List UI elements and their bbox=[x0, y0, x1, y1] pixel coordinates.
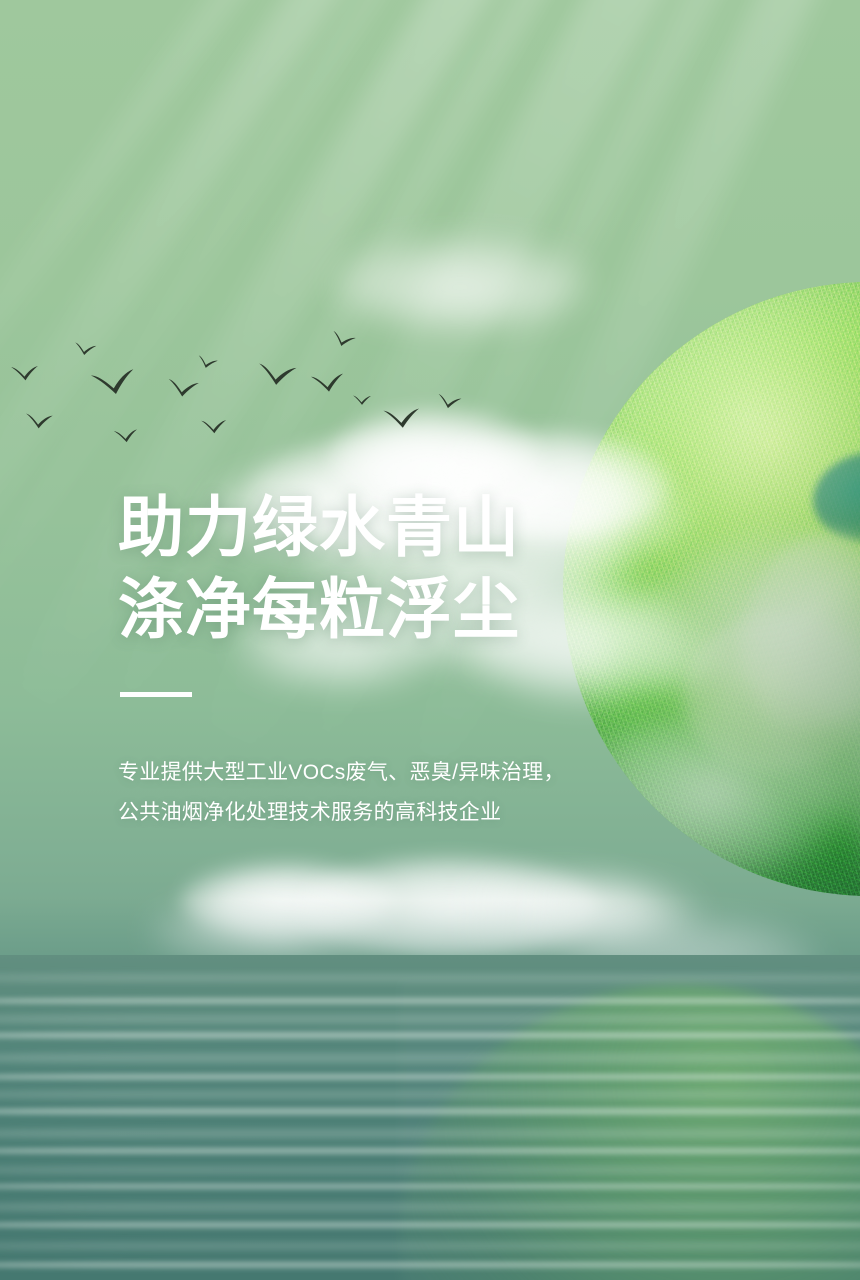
bird-icon bbox=[435, 392, 463, 412]
hero-copy: 助力绿水青山 涤净每粒浮尘 专业提供大型工业VOCs废气、恶臭/异味治理， 公共… bbox=[118, 486, 638, 833]
bird-icon bbox=[9, 363, 40, 384]
headline-line-1: 助力绿水青山 bbox=[118, 486, 638, 568]
water-ripple bbox=[0, 1107, 860, 1116]
water-ripple bbox=[0, 997, 860, 1005]
subcopy-line-2: 公共油烟净化处理技术服务的高科技企业 bbox=[118, 793, 638, 833]
bird-icon bbox=[195, 354, 220, 373]
bird-icon bbox=[112, 427, 140, 446]
water-ripple bbox=[0, 1147, 860, 1155]
bird-icon bbox=[309, 370, 347, 397]
headline-line-2: 涤净每粒浮尘 bbox=[118, 568, 638, 650]
subcopy-line-1: 专业提供大型工业VOCs废气、恶臭/异味治理， bbox=[118, 753, 638, 793]
bird-icon bbox=[72, 340, 98, 358]
water-ripple bbox=[0, 1221, 860, 1229]
bird-flock bbox=[0, 320, 470, 470]
water-ripple bbox=[0, 1241, 860, 1251]
water-ripple bbox=[0, 1165, 860, 1175]
water-ripple bbox=[0, 1013, 860, 1025]
bird-icon bbox=[165, 376, 201, 401]
water-surface bbox=[0, 955, 860, 1280]
water-ripple bbox=[0, 1261, 860, 1269]
bird-icon bbox=[328, 329, 357, 352]
water-ripple bbox=[0, 1051, 860, 1065]
water-ripple bbox=[0, 1183, 860, 1190]
bird-icon bbox=[88, 364, 140, 402]
water-ripple bbox=[0, 1073, 860, 1081]
water-ripple bbox=[0, 1031, 860, 1040]
water-ripple bbox=[0, 973, 860, 983]
bird-icon bbox=[255, 360, 299, 390]
bird-icon bbox=[200, 417, 229, 436]
bird-icon bbox=[24, 411, 55, 431]
water-ripple bbox=[0, 1127, 860, 1140]
banner-hero: 助力绿水青山 涤净每粒浮尘 专业提供大型工业VOCs废气、恶臭/异味治理， 公共… bbox=[0, 0, 860, 1280]
water-ripple bbox=[0, 1201, 860, 1213]
headline-divider bbox=[120, 692, 192, 697]
water-ripple bbox=[0, 1089, 860, 1100]
bird-icon bbox=[352, 394, 372, 406]
bird-icon bbox=[381, 404, 423, 432]
